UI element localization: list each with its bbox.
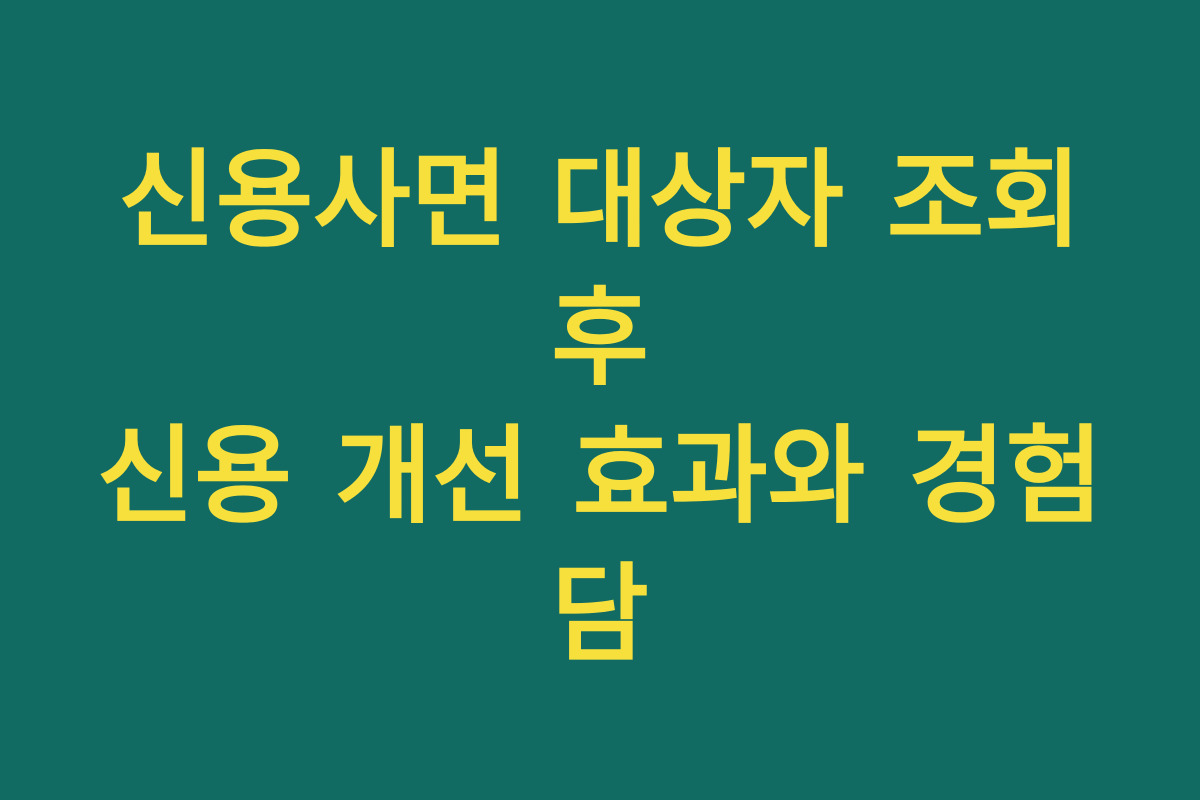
headline-line-2: 신용 개선 효과와 경험 — [55, 408, 1145, 546]
page-title: 신용사면 대상자 조회 후 신용 개선 효과와 경험 담 — [55, 132, 1145, 684]
headline-line-1: 신용사면 대상자 조회 후 — [55, 132, 1145, 408]
title-banner: 신용사면 대상자 조회 후 신용 개선 효과와 경험 담 — [0, 0, 1200, 800]
headline-line-3: 담 — [55, 546, 1145, 684]
